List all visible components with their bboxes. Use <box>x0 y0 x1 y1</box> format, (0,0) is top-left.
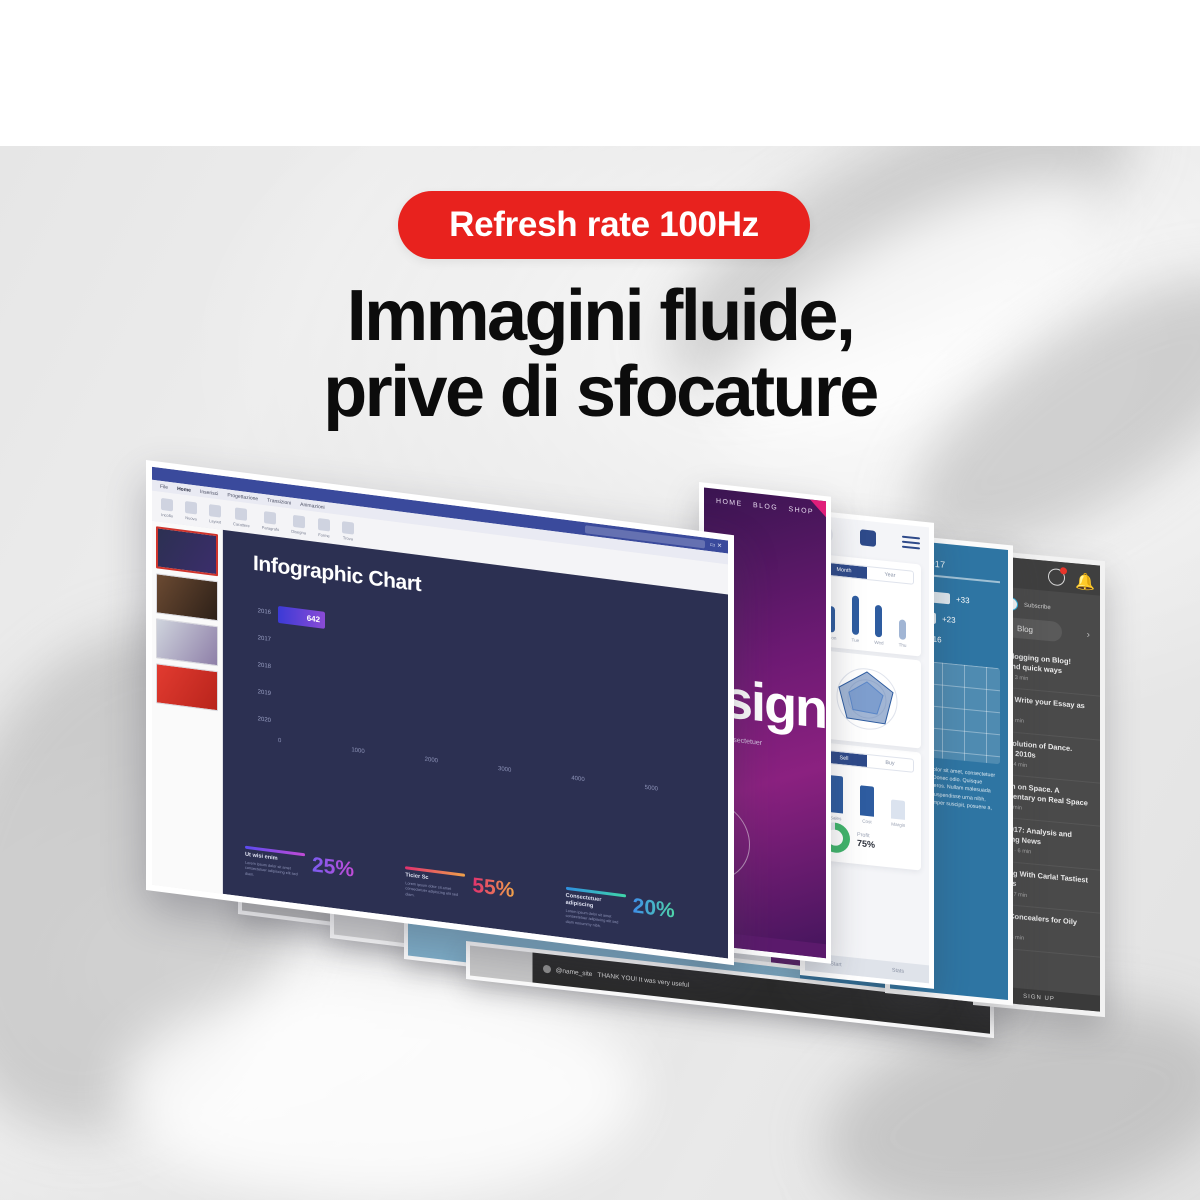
ribbon-icon[interactable] <box>342 521 354 535</box>
nav-blog[interactable]: BLOG <box>753 502 778 512</box>
slide-thumbnail[interactable] <box>156 618 218 666</box>
ribbon-group-7[interactable]: Trova <box>342 521 354 542</box>
mini-bar-label: Cost <box>862 818 871 824</box>
powerpoint-window[interactable]: ▭ ✕ FileHomeInserisciProgettazioneTransi… <box>146 460 734 965</box>
mini-bar-column: Margin <box>891 799 905 828</box>
bell-icon[interactable]: 🔔 <box>1075 571 1090 587</box>
slide-stats: Ut wisi enimLorem ipsum dolor sit amet c… <box>245 846 716 944</box>
bar <box>899 619 906 640</box>
corner-accent <box>810 499 826 517</box>
chart-category-label: 2019 <box>237 687 278 698</box>
testimonial-text: THANK YOU! It was very useful <box>597 971 689 988</box>
bar-label: Wed <box>874 640 883 646</box>
ribbon-label: Paragrafo <box>262 524 280 531</box>
ribbon-label: Disegna <box>291 528 306 535</box>
stat-block: Ut wisi enimLorem ipsum dolor sit amet c… <box>245 846 395 903</box>
chevron-right-icon[interactable]: › <box>1087 629 1090 640</box>
ribbon-group-6[interactable]: Forme <box>318 518 330 539</box>
ribbon-label: Incolla <box>161 511 173 517</box>
ribbon-label: Carattere <box>233 521 250 528</box>
mini-bar-chart: SalesCostMargin <box>820 771 914 829</box>
stat-value: 25% <box>312 854 354 880</box>
ribbon-icon[interactable] <box>185 500 197 514</box>
ribbon-label: Forme <box>318 532 330 538</box>
ribbon-tab-5[interactable]: Animazioni <box>300 501 324 510</box>
bar-column: Wed <box>874 605 883 646</box>
infographic-bar-chart: 2016642201722401321201842012603201952194… <box>237 598 718 801</box>
purple-nav[interactable]: HOME BLOG SHOP <box>704 488 826 518</box>
account-icon[interactable] <box>1048 567 1065 586</box>
chart-bar-segment: 642 <box>278 605 325 628</box>
ribbon-tab-4[interactable]: Transizioni <box>267 497 291 506</box>
profit-value: 75% <box>857 838 875 850</box>
segment-buy[interactable]: Buy <box>867 755 913 772</box>
ribbon-tab-2[interactable]: Inserisci <box>200 488 218 496</box>
mini-bar-label: Sales <box>830 815 842 821</box>
ribbon-label: Trova <box>343 535 353 541</box>
stat-value: 55% <box>472 875 514 901</box>
bar <box>875 605 882 638</box>
ribbon-group-0[interactable]: Incolla <box>161 497 173 518</box>
avatar-icon <box>543 965 551 974</box>
footer-stats[interactable]: Stats <box>867 959 929 983</box>
mini-bar <box>891 799 905 820</box>
ribbon-icon[interactable] <box>161 497 173 511</box>
nav-home[interactable]: HOME <box>716 498 743 508</box>
stat-block: Consectetuer adipiscingLorem ipsum dolor… <box>566 887 716 944</box>
ribbon-icon[interactable] <box>209 504 221 518</box>
delta-value: +33 <box>956 595 970 605</box>
bar-column: Tue <box>851 595 859 643</box>
ribbon-icon[interactable] <box>318 518 330 532</box>
stat-value: 20% <box>633 895 675 921</box>
chart-category-label: 2018 <box>237 660 278 671</box>
testimonial-handle: @name_site <box>556 967 593 978</box>
chart-category-label: 2016 <box>237 606 278 617</box>
ribbon-group-2[interactable]: Layout <box>209 504 221 525</box>
subscribe-label: Subscribe <box>1024 602 1051 610</box>
promo-banner: Refresh rate 100Hz Immagini fluide, priv… <box>0 0 1200 1200</box>
bar-label: Tue <box>851 637 859 643</box>
ribbon-tab-0[interactable]: File <box>160 483 168 490</box>
chart-bar-segment: 1321 <box>278 632 375 661</box>
ribbon-group-1[interactable]: Nuova <box>185 500 197 521</box>
delta-value: +23 <box>942 615 956 625</box>
bar <box>852 595 859 635</box>
ribbon-tab-1[interactable]: Home <box>177 485 191 493</box>
ribbon-icon[interactable] <box>235 507 247 521</box>
bar-column: Thu <box>899 619 907 648</box>
slide-canvas[interactable]: Infographic Chart 2016642201722401321201… <box>223 530 728 959</box>
ribbon-icon[interactable] <box>293 514 305 528</box>
ribbon-label: Layout <box>209 518 221 525</box>
mini-segmented-control[interactable]: Sell Buy <box>820 749 914 773</box>
person-icon[interactable] <box>860 529 876 547</box>
stat-block: Ticier ScLorem ipsum dolor sit amet cons… <box>405 866 555 923</box>
chart-segmented-control[interactable]: Month Year <box>820 561 914 585</box>
slide-thumbnail-panel[interactable] <box>152 521 223 894</box>
slide-thumbnail[interactable] <box>156 526 218 576</box>
chart-category-label: 2017 <box>237 633 278 644</box>
mini-bar-column: Cost <box>860 785 874 825</box>
menu-icon[interactable] <box>902 535 920 549</box>
ribbon-label: Nuova <box>185 515 197 521</box>
chart-category-label: 2020 <box>237 714 278 725</box>
slide-thumbnail[interactable] <box>156 573 218 621</box>
testimonial-caption: @name_site THANK YOU! It was very useful <box>543 965 689 989</box>
bar-label: Thu <box>899 642 907 648</box>
ribbon-group-5[interactable]: Disegna <box>291 514 306 535</box>
slide-thumbnail[interactable] <box>156 663 218 711</box>
device-screen-stack: @name_site THANK YOU! It was very useful… <box>0 0 1200 1200</box>
bar-chart: MonTueWedThu <box>820 583 914 649</box>
window-controls[interactable]: ▭ ✕ <box>710 541 722 550</box>
slide-title: Infographic Chart <box>253 552 421 598</box>
ribbon-group-4[interactable]: Paragrafo <box>262 510 280 531</box>
mini-bar <box>860 785 874 817</box>
ribbon-group-3[interactable]: Carattere <box>233 507 250 528</box>
ribbon-icon[interactable] <box>264 511 276 525</box>
segment-year[interactable]: Year <box>867 567 913 584</box>
